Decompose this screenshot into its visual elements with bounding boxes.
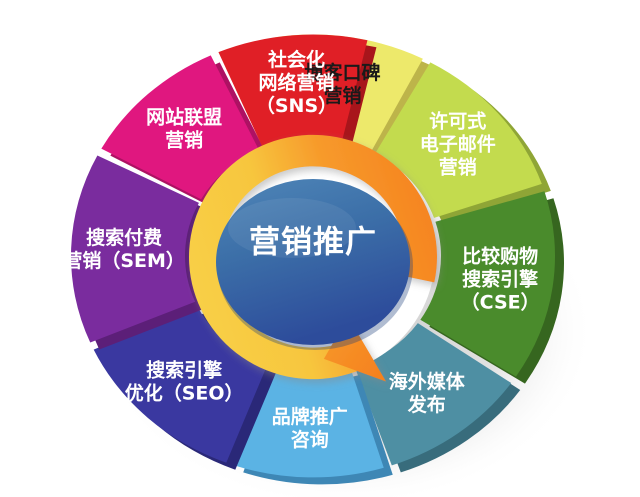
segment-label-line: 营销 — [165, 129, 203, 152]
wheel-svg: 营销推广 博客口碑营销许可式电子邮件营销比较购物搜索引擎（CSE）海外媒体发布品… — [0, 0, 640, 497]
segment-label-line: 比较购物 — [462, 245, 538, 268]
segment-label-line: 电子邮件 — [420, 132, 496, 155]
segment-label-line: （CSE） — [461, 291, 540, 314]
segment-label-line: 品牌推广 — [272, 405, 348, 428]
segment-label-line: 搜索引擎 — [146, 358, 222, 381]
segment-label-cse: 比较购物搜索引擎（CSE） — [461, 245, 540, 314]
segment-label-line: （SNS） — [256, 94, 337, 117]
segment-label-line: 搜索引擎 — [462, 268, 538, 291]
segment-label-line: 许可式 — [429, 109, 486, 132]
center-label: 营销推广 — [249, 225, 377, 261]
segment-label-line: 搜索付费 — [86, 226, 162, 249]
segment-label-sns: 社会化网络营销（SNS） — [256, 48, 337, 117]
segment-label-line: 社会化 — [267, 48, 325, 71]
segment-label-line: 优化（SEO） — [125, 381, 244, 404]
segment-label-line: 营销 — [439, 155, 477, 178]
segment-label-line: 网站联盟 — [146, 106, 222, 129]
segment-label-line: 海外媒体 — [389, 370, 466, 393]
segment-label-line: 营销（SEM） — [63, 249, 185, 272]
segment-label-line: 网络营销 — [259, 71, 335, 94]
marketing-wheel-diagram: 营销推广 博客口碑营销许可式电子邮件营销比较购物搜索引擎（CSE）海外媒体发布品… — [0, 0, 640, 497]
segment-label-line: 咨询 — [291, 428, 329, 451]
segment-label-line: 发布 — [407, 393, 446, 416]
